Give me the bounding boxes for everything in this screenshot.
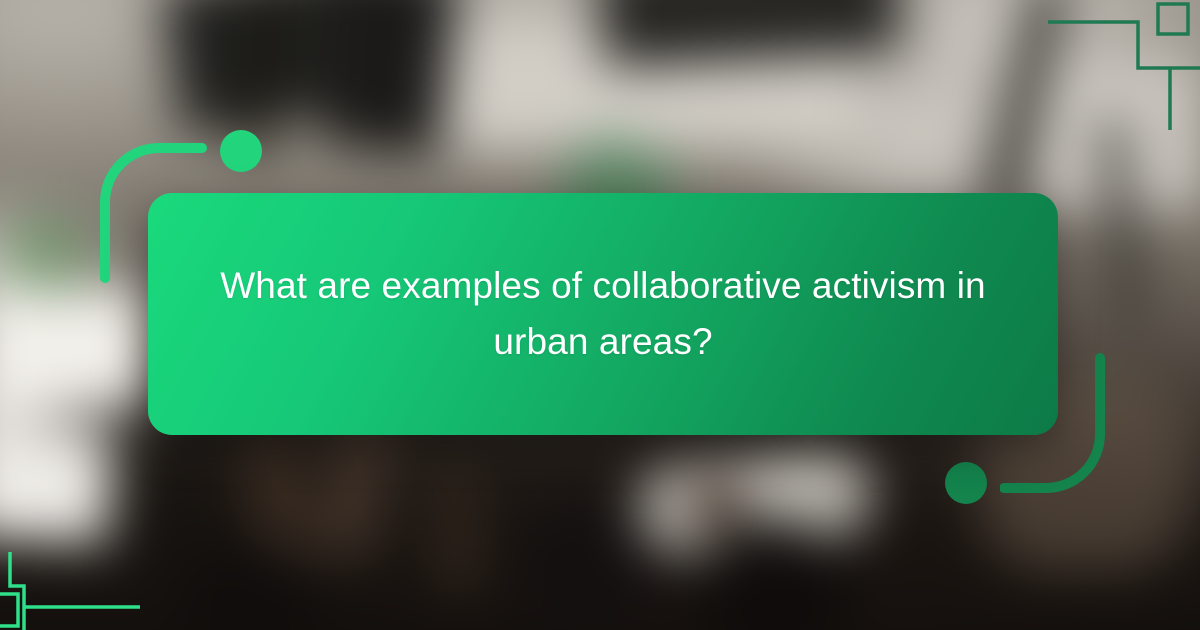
question-card-graphic: What are examples of collaborative activ… (0, 0, 1200, 630)
question-card: What are examples of collaborative activ… (148, 193, 1058, 435)
placard-shape-b (0, 426, 113, 544)
placard-shape-a (0, 287, 152, 413)
question-text: What are examples of collaborative activ… (148, 258, 1058, 370)
green-accent-b (0, 215, 90, 295)
crowd-head-a (520, 500, 650, 630)
banner-shape-b (320, 0, 459, 156)
wheel-shape (690, 480, 744, 534)
raised-arm-c (425, 453, 485, 596)
